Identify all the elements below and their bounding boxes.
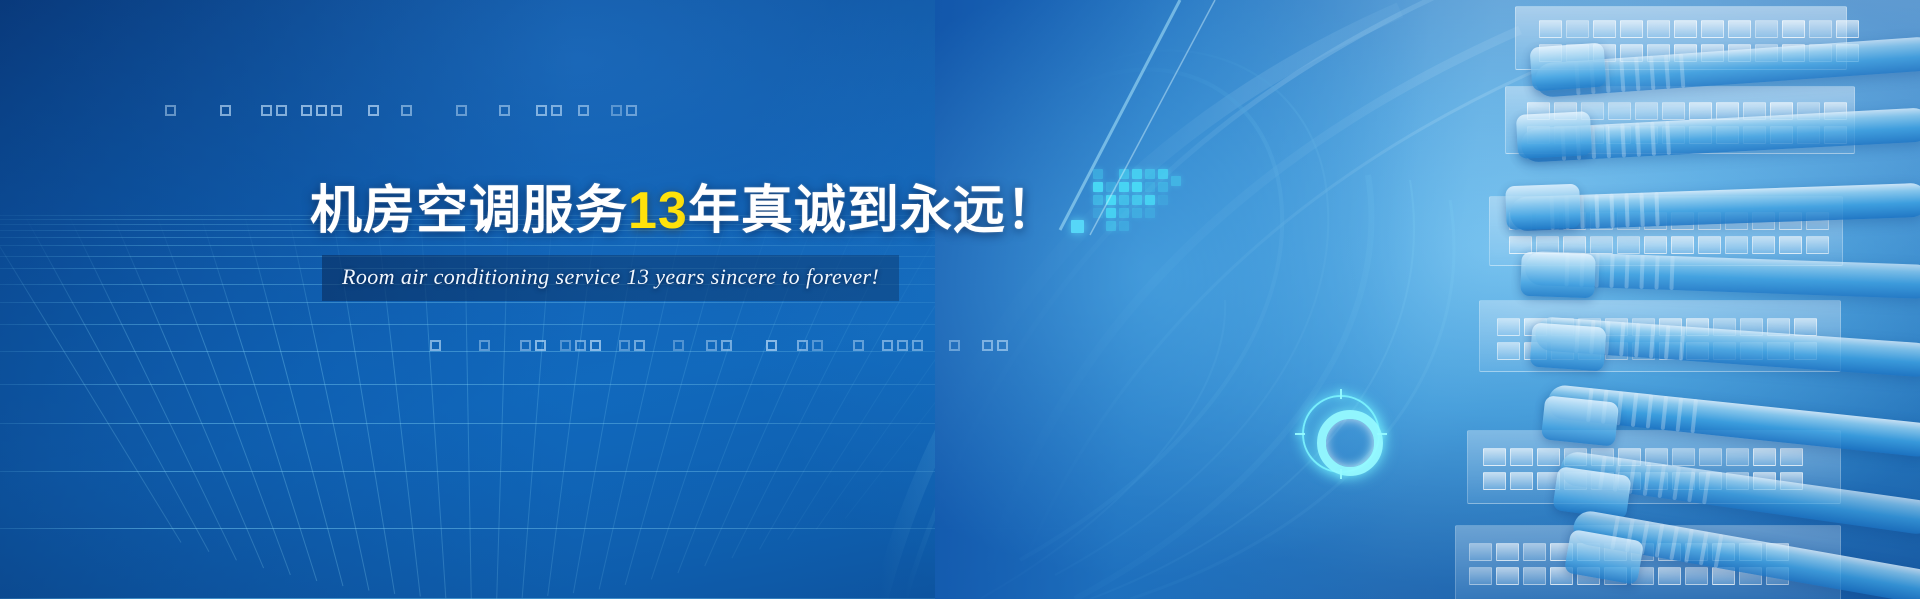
hud-ring-inner [1317, 410, 1383, 476]
decor-square [721, 340, 732, 351]
mosaic-pixel [1132, 208, 1142, 218]
decor-square [316, 105, 327, 116]
mosaic-pixel [1119, 195, 1129, 205]
decor-square [368, 105, 379, 116]
hud-ring-tick-e [1377, 433, 1387, 435]
mosaic-pixel [1119, 208, 1129, 218]
decor-square [535, 340, 546, 351]
page-title: 机房空调服务13年真诚到永远！ [310, 168, 1059, 243]
decor-square [456, 105, 467, 116]
decor-square [812, 340, 823, 351]
decor-square [997, 340, 1008, 351]
square-dot-row-bottom [430, 340, 900, 354]
decor-square [479, 340, 490, 351]
decor-square [276, 105, 287, 116]
headline-number: 13 [628, 182, 688, 240]
mosaic-pixel [1158, 182, 1168, 192]
mosaic-pixel [1106, 221, 1116, 231]
decor-square [797, 340, 808, 351]
mosaic-pixel [1158, 195, 1168, 205]
mosaic-pixel [1093, 208, 1103, 218]
decor-square [626, 105, 637, 116]
decor-square [949, 340, 960, 351]
mosaic-pixel [1132, 195, 1142, 205]
mosaic-pixel [1132, 182, 1142, 192]
square-dot-row-top [165, 105, 555, 119]
decor-square [401, 105, 412, 116]
decor-square [261, 105, 272, 116]
decor-square [331, 105, 342, 116]
decor-square [560, 340, 571, 351]
mosaic-pixel [1119, 182, 1129, 192]
decor-square [165, 105, 176, 116]
hero-banner: 机房空调服务13年真诚到永远！ Room air conditioning se… [0, 0, 1920, 599]
headline-suffix: 年真诚到永远！ [688, 182, 1059, 240]
mosaic-pixel [1145, 169, 1155, 179]
hud-ring-icon [1302, 395, 1380, 473]
mosaic-pixel [1119, 221, 1129, 231]
hud-ring-tick-s [1340, 469, 1342, 479]
mosaic-pixel [1132, 169, 1142, 179]
decor-square [912, 340, 923, 351]
decor-square [611, 105, 622, 116]
decor-square [634, 340, 645, 351]
decor-square [882, 340, 893, 351]
hud-ring-tick-n [1340, 389, 1342, 399]
mosaic-pixel [1106, 208, 1116, 218]
decor-square [536, 105, 547, 116]
decor-square [590, 340, 601, 351]
mosaic-pixel [1119, 169, 1129, 179]
mosaic-pixel [1171, 176, 1181, 186]
decor-square [766, 340, 777, 351]
decor-square [706, 340, 717, 351]
subtitle-text: Room air conditioning service 13 years s… [342, 264, 879, 290]
decor-square [551, 105, 562, 116]
mosaic-pixel-large [1071, 220, 1084, 233]
mosaic-pixel [1106, 195, 1116, 205]
decor-square [430, 340, 441, 351]
decor-square [301, 105, 312, 116]
mosaic-pixel [1145, 182, 1155, 192]
mosaic-pixel [1106, 182, 1116, 192]
subtitle-plate: Room air conditioning service 13 years s… [322, 255, 899, 301]
network-switch-panel [935, 0, 1920, 599]
mosaic-pixel [1093, 169, 1103, 179]
decor-square [982, 340, 993, 351]
mosaic-pixel [1145, 195, 1155, 205]
mosaic-pixel [1093, 182, 1103, 192]
mosaic-pixel [1145, 208, 1155, 218]
pixel-mosaic [1093, 148, 1213, 244]
decor-square [673, 340, 684, 351]
decor-square [853, 340, 864, 351]
decor-square [220, 105, 231, 116]
mosaic-pixel [1093, 195, 1103, 205]
rack-blue-tint [935, 0, 1920, 599]
decor-square [578, 105, 589, 116]
decor-square [619, 340, 630, 351]
mosaic-pixel [1158, 169, 1168, 179]
decor-square [520, 340, 531, 351]
hud-ring-tick-w [1295, 433, 1305, 435]
decor-square [897, 340, 908, 351]
headline-prefix: 机房空调服务 [310, 182, 628, 240]
decor-square [499, 105, 510, 116]
decor-square [575, 340, 586, 351]
